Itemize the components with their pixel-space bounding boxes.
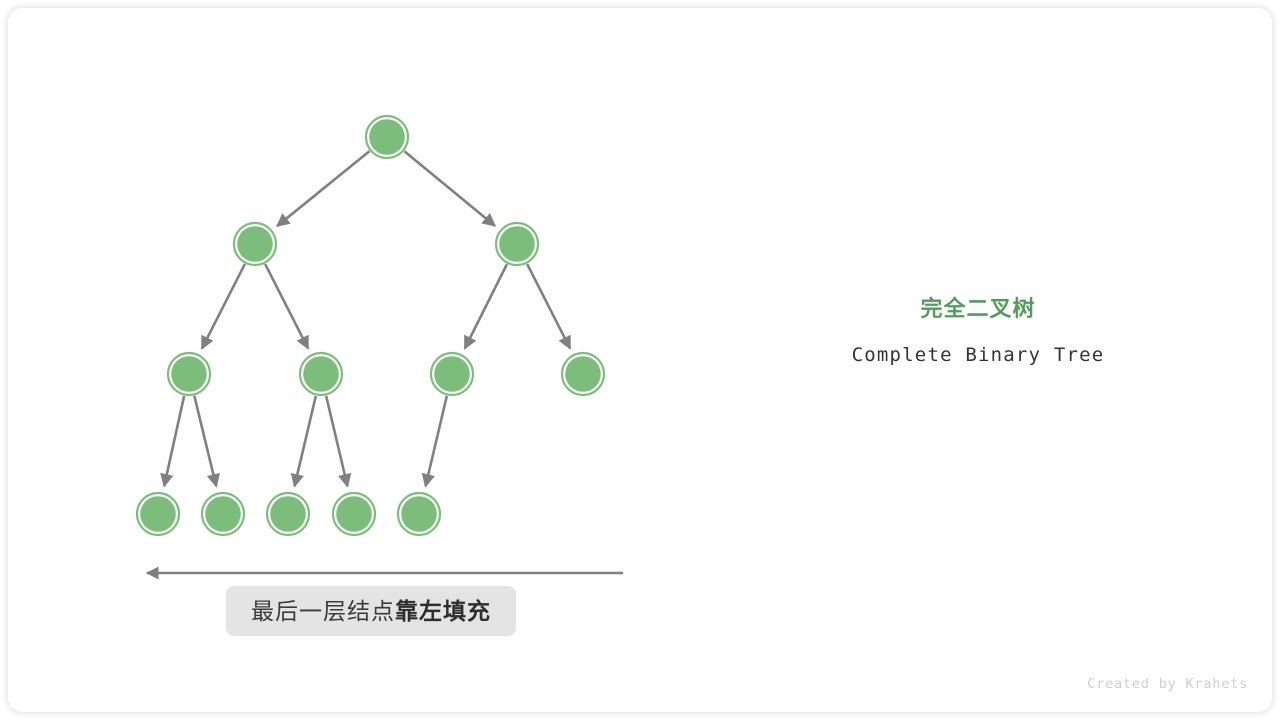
node-fill (303, 356, 339, 392)
caption-text-normal: 最后一层结点 (251, 598, 395, 624)
node-fill (565, 356, 601, 392)
tree-edge (265, 264, 308, 349)
diagram-card: 完全二叉树 Complete Binary Tree 最后一层结点靠左填充 Cr… (8, 8, 1272, 712)
tree-node (300, 353, 342, 395)
tree-node (202, 493, 244, 535)
node-fill (401, 496, 437, 532)
tree-edge (164, 396, 184, 486)
tree-nodes (137, 116, 604, 535)
tree-edges (164, 151, 570, 486)
node-fill (237, 226, 273, 262)
tree-node (562, 353, 604, 395)
tree-edge (326, 396, 347, 486)
tree-edge (527, 264, 570, 349)
tree-edge (194, 396, 216, 486)
tree-edge (404, 151, 495, 226)
tree-node (168, 353, 210, 395)
legend-title-cn: 完全二叉树 (768, 296, 1188, 322)
legend-subtitle-en: Complete Binary Tree (768, 344, 1188, 367)
tree-node (234, 223, 276, 265)
diagram-canvas: 完全二叉树 Complete Binary Tree 最后一层结点靠左填充 Cr… (0, 0, 1280, 720)
node-fill (336, 496, 372, 532)
node-fill (171, 356, 207, 392)
node-fill (499, 226, 535, 262)
tree-edge (295, 396, 316, 486)
tree-edge (202, 264, 245, 349)
node-fill (270, 496, 306, 532)
caption-text-emphasis: 靠左填充 (395, 598, 491, 624)
tree-edge (426, 396, 447, 486)
tree-node (431, 353, 473, 395)
tree-node (267, 493, 309, 535)
legend: 完全二叉树 Complete Binary Tree (768, 296, 1188, 367)
tree-edge (465, 264, 507, 348)
node-fill (369, 119, 405, 155)
tree-node (333, 493, 375, 535)
node-fill (205, 496, 241, 532)
tree-node (496, 223, 538, 265)
tree-node (137, 493, 179, 535)
credit-text: Created by Krahets (1068, 676, 1248, 692)
tree-node (398, 493, 440, 535)
tree-edge (277, 151, 369, 226)
node-fill (434, 356, 470, 392)
tree-node (366, 116, 408, 158)
caption-badge: 最后一层结点靠左填充 (226, 586, 516, 636)
node-fill (140, 496, 176, 532)
